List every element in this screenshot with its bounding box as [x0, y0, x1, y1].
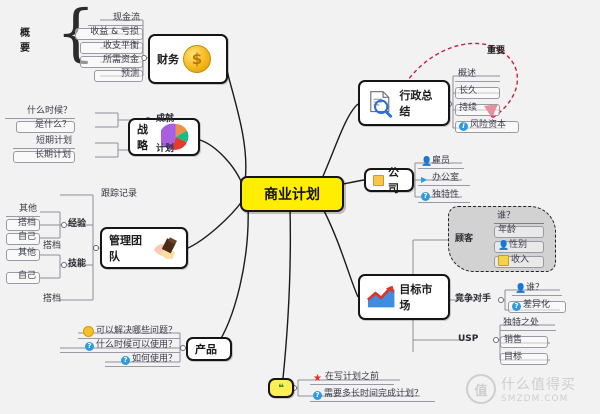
- mindmap-canvas[interactable]: { 概要 商业计划 财务 $ 现金流 收益 & 亏损 收支平衡 所需资金 预测 …: [0, 0, 600, 414]
- leaf-exp-partner[interactable]: 搭档: [6, 219, 40, 231]
- quote-note-icon: ❝: [278, 383, 284, 394]
- node-company-label: 公司: [388, 164, 405, 196]
- leaf-partner-mid[interactable]: 搭档: [40, 241, 80, 253]
- question-icon: ?: [512, 302, 521, 311]
- leaf-usp-goal[interactable]: 目标: [500, 353, 548, 365]
- node-before-plan[interactable]: ❝: [268, 378, 294, 398]
- leaf-customer-income[interactable]: 收入: [494, 256, 544, 268]
- leaf-longevity[interactable]: 长久: [455, 87, 500, 99]
- leaf-forecast[interactable]: 预测: [94, 70, 143, 82]
- node-team-label: 管理团队: [109, 232, 148, 264]
- leaf-funds-needed[interactable]: 所需资金: [80, 56, 143, 68]
- question-icon: ?: [85, 342, 94, 351]
- node-exec-summary-label: 行政总结: [399, 87, 441, 119]
- leaf-customer-age[interactable]: 年龄: [494, 226, 544, 238]
- leaf-customer-who[interactable]: 谁？: [494, 212, 544, 224]
- leaf-employees[interactable]: 👤 雇员: [418, 157, 464, 169]
- group-achievement-label[interactable]: 成就: [153, 114, 187, 126]
- leaf-profit-loss[interactable]: 收益 & 亏损: [75, 28, 143, 40]
- watermark-line1: 什么值得买: [501, 374, 576, 394]
- gold-coin-icon: $: [183, 45, 211, 73]
- orange-dot-icon: [83, 326, 94, 337]
- handshake-icon: [152, 234, 179, 262]
- relationship-label: 重要: [487, 43, 505, 56]
- leaf-what-problems[interactable]: 可以解决哪些问题？: [78, 327, 180, 339]
- node-product[interactable]: 产品: [186, 337, 232, 361]
- watermark-line2: SMZDM.COM: [501, 394, 576, 404]
- node-finance[interactable]: 财务 $: [148, 34, 228, 84]
- group-customer-label[interactable]: 顾客: [452, 234, 482, 246]
- person-icon: 👤: [498, 242, 507, 251]
- leaf-before-writing[interactable]: ★ 在写计划之前: [310, 373, 394, 385]
- leaf-how-long[interactable]: ? 需要多长时间完成计划？: [310, 390, 435, 402]
- node-target-market-label: 目标市场: [399, 281, 441, 313]
- person-icon: 👤: [515, 285, 524, 294]
- group-competitor-label[interactable]: 竞争对手: [452, 294, 504, 306]
- watermark-logo: 值: [466, 374, 496, 404]
- node-exec-summary[interactable]: 行政总结: [358, 80, 450, 126]
- center-node[interactable]: 商业计划: [240, 176, 344, 212]
- leaf-skill-self[interactable]: 自己: [6, 272, 40, 284]
- folder-icon: [373, 175, 384, 186]
- money-icon: [498, 255, 509, 266]
- leaf-track-record[interactable]: 跟踪记录: [98, 189, 153, 201]
- leaf-short-term[interactable]: 短期计划: [13, 137, 75, 149]
- node-finance-label: 财务: [157, 51, 179, 67]
- group-experience-label[interactable]: 经验: [65, 219, 97, 231]
- leaf-differentiation[interactable]: ? 差异化: [508, 301, 566, 313]
- leaf-skill-other[interactable]: 其他: [6, 249, 40, 261]
- leaf-partner-bottom[interactable]: 搭档: [40, 294, 80, 306]
- leaf-sustain[interactable]: 持续: [455, 104, 500, 116]
- star-icon: ★: [313, 374, 323, 383]
- leaf-long-term[interactable]: 长期计划: [13, 151, 75, 163]
- info-icon: i: [459, 122, 468, 131]
- leaf-usp-sales[interactable]: 销售: [500, 336, 548, 348]
- growth-chart-icon: [367, 284, 395, 310]
- leaf-overview[interactable]: 概述: [455, 70, 500, 82]
- leaf-uniqueness[interactable]: ? 独特性: [418, 191, 470, 203]
- group-usp-label[interactable]: USP: [455, 334, 485, 346]
- node-product-label: 产品: [195, 341, 217, 357]
- leaf-competitor-who[interactable]: 👤 谁？: [512, 284, 562, 296]
- group-plan-label[interactable]: 计划: [153, 144, 187, 156]
- leaf-exp-other[interactable]: 其他: [6, 205, 40, 217]
- leaf-what-q[interactable]: 是什么？: [16, 121, 75, 133]
- leaf-breakeven[interactable]: 收支平衡: [80, 42, 143, 54]
- leaf-usp-unique[interactable]: 独特之处: [500, 319, 556, 331]
- watermark: 值 什么值得买 SMZDM.COM: [466, 374, 576, 404]
- leaf-venture-capital[interactable]: i 风险资本: [455, 121, 519, 133]
- flag-icon: ▶: [421, 175, 430, 184]
- question-icon: ?: [421, 192, 430, 201]
- leaf-office[interactable]: ▶ 办公室: [418, 174, 470, 186]
- leaf-how-to-use[interactable]: ? 如何使用？: [105, 355, 180, 367]
- leaf-customer-gender[interactable]: 👤 性别: [494, 241, 544, 253]
- person-icon: 👤: [421, 158, 430, 167]
- leaf-when-q[interactable]: 什么时候？: [5, 107, 75, 119]
- leaf-when-usable[interactable]: ? 什么时候可以使用？: [60, 341, 180, 353]
- question-icon: ?: [313, 391, 322, 400]
- node-company[interactable]: 公司: [364, 168, 414, 192]
- node-target-market[interactable]: 目标市场: [358, 274, 450, 320]
- leaf-cashflow[interactable]: 现金流: [88, 14, 143, 26]
- question-icon: ?: [121, 356, 130, 365]
- boundary-summary-label: 概要: [20, 24, 30, 54]
- document-search-icon: [367, 88, 395, 118]
- group-skills-label[interactable]: 技能: [65, 259, 97, 271]
- node-team[interactable]: 管理团队: [100, 227, 188, 269]
- leaf-exp-self[interactable]: 自己: [6, 233, 40, 245]
